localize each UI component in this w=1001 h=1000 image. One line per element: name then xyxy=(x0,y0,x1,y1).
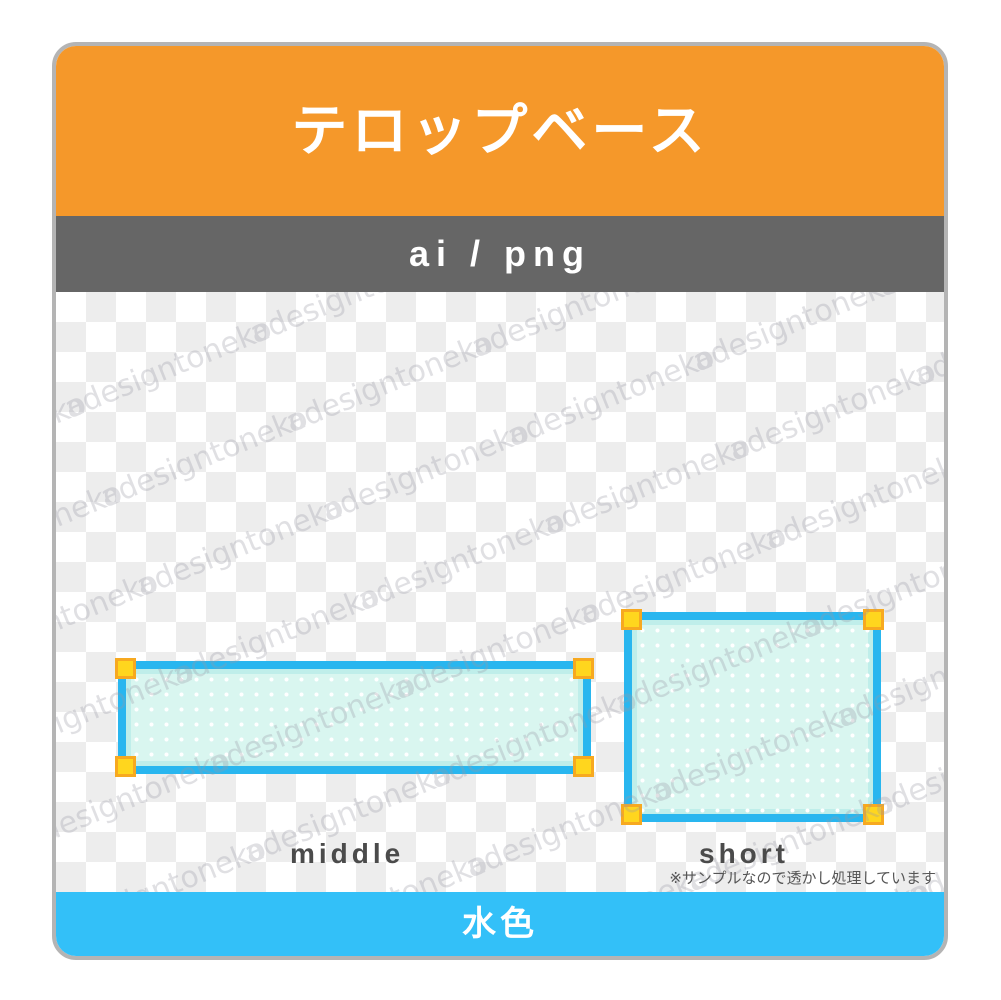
product-card: テロップベース ai / png xyxy=(52,42,948,960)
watermark-text: adesigntoneko xyxy=(538,428,755,543)
watermark-text: adesigntoneko xyxy=(56,386,91,501)
watermark-text: adesigntoneko xyxy=(317,414,534,529)
corner-marker-top-left xyxy=(621,609,642,630)
telop-base-middle[interactable] xyxy=(118,661,591,774)
watermark-text: adesigntoneko xyxy=(466,292,683,365)
watermark-text: adesigntoneko xyxy=(56,831,271,892)
screenshot-root: テロップベース ai / png xyxy=(0,0,1001,1000)
corner-marker-bottom-right xyxy=(573,756,594,777)
watermark-text: adesigntoneko xyxy=(281,325,498,440)
watermark-disclaimer: ※サンプルなので透かし処理しています xyxy=(669,871,936,886)
watermark-text: adesigntoneko xyxy=(502,339,719,454)
watermark-text: adesigntoneko xyxy=(59,311,276,426)
watermark-text: adesigntoneko xyxy=(724,353,941,468)
corner-marker-bottom-left xyxy=(115,756,136,777)
corner-marker-top-right xyxy=(573,658,594,679)
title-banner: テロップベース xyxy=(56,46,944,216)
preview-area: middle short long adesigntonekoadesignto… xyxy=(56,292,944,892)
corner-marker-top-right xyxy=(863,609,884,630)
color-footer: 水色 xyxy=(56,892,944,956)
sample-caption-short: short xyxy=(699,840,789,868)
watermark-text: adesigntoneko xyxy=(131,489,348,604)
dot-pattern xyxy=(632,620,873,814)
watermark-text: adesigntoneko xyxy=(353,503,570,618)
sample-caption-middle: middle xyxy=(290,840,404,868)
watermark-text: adesigntoneko xyxy=(95,400,312,515)
watermark-text: adesigntoneko xyxy=(909,292,944,393)
format-banner: ai / png xyxy=(56,216,944,292)
dot-pattern xyxy=(126,669,583,766)
watermark-text: adesigntoneko xyxy=(759,442,944,557)
corner-marker-bottom-right xyxy=(863,804,884,825)
watermark-text: adesigntoneko xyxy=(245,292,462,351)
telop-base-short[interactable] xyxy=(624,612,881,822)
watermark-text: adesigntoneko xyxy=(873,292,944,304)
corner-marker-bottom-left xyxy=(621,804,642,825)
corner-marker-top-left xyxy=(115,658,136,679)
color-name-label: 水色 xyxy=(462,907,538,941)
page-title: テロップベース xyxy=(291,103,708,159)
watermark-text: adesigntoneko xyxy=(56,475,127,590)
file-format-label: ai / png xyxy=(409,236,591,272)
watermark-text: adesigntoneko xyxy=(688,292,905,379)
